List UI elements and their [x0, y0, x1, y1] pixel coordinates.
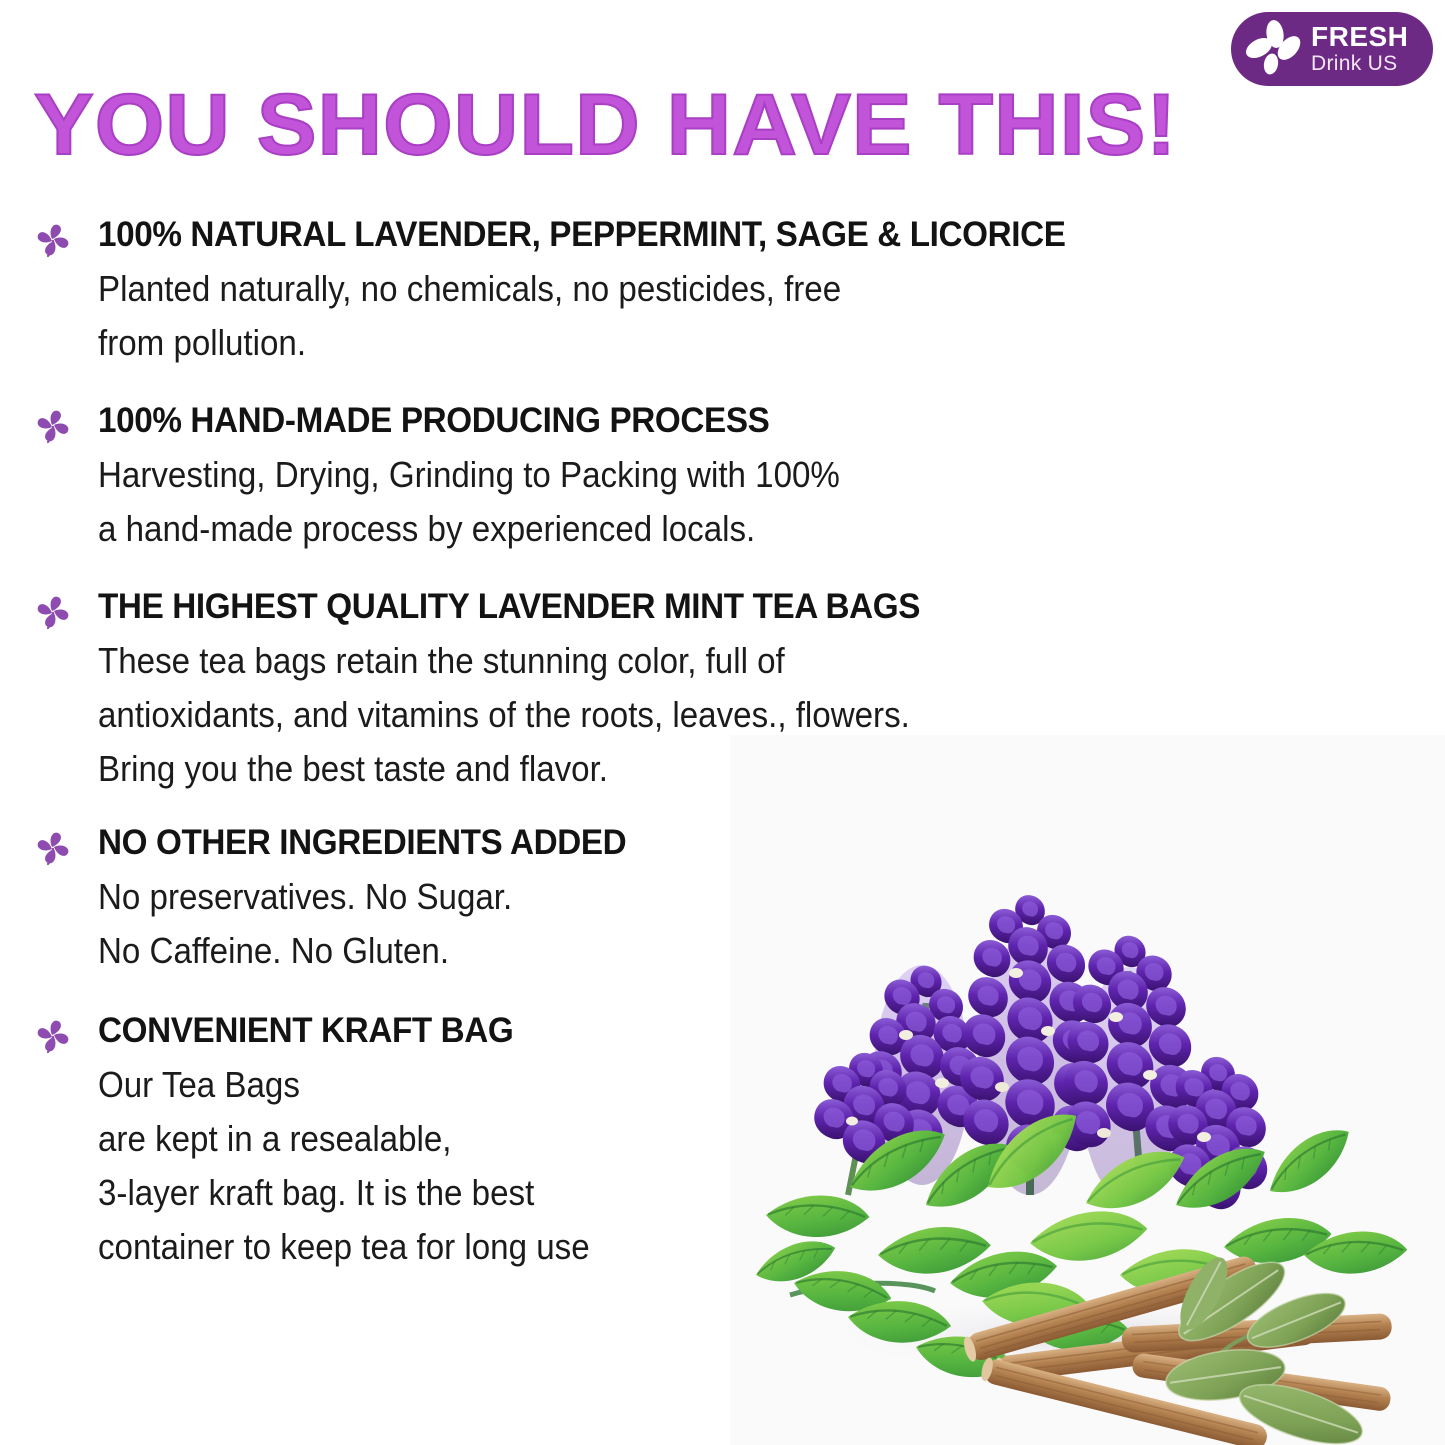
feature-body: Planted naturally, no chemicals, no pest…	[98, 262, 1314, 370]
herb-ingredients-photo	[730, 735, 1445, 1445]
feature-body-line: antioxidants, and vitamins of the roots,…	[98, 688, 1314, 742]
brand-name-bottom: Drink US	[1311, 53, 1408, 74]
feature-body: Harvesting, Drying, Grinding to Packing …	[98, 448, 1314, 556]
feature-item: 100% NATURAL LAVENDER, PEPPERMINT, SAGE …	[30, 212, 1420, 370]
brand-badge: FRESH Drink US	[1231, 12, 1433, 86]
page-title: YOU SHOULD HAVE THIS!	[34, 82, 1272, 168]
infographic-page: FRESH Drink US YOU SHOULD HAVE THIS! 100…	[0, 0, 1445, 1445]
feature-title: THE HIGHEST QUALITY LAVENDER MINT TEA BA…	[98, 584, 1354, 630]
flower-petals-icon	[1243, 18, 1305, 80]
feature-body-line: These tea bags retain the stunning color…	[98, 634, 1314, 688]
feature-body-line: Harvesting, Drying, Grinding to Packing …	[98, 448, 1314, 502]
four-leaf-clover-icon	[30, 1014, 76, 1060]
brand-name-top: FRESH	[1311, 23, 1408, 51]
feature-body-line: Planted naturally, no chemicals, no pest…	[98, 262, 1314, 316]
feature-title: 100% HAND-MADE PRODUCING PROCESS	[98, 398, 1354, 444]
brand-text: FRESH Drink US	[1311, 23, 1408, 76]
four-leaf-clover-icon	[30, 826, 76, 872]
feature-body-line: from pollution.	[98, 316, 1314, 370]
feature-item: 100% HAND-MADE PRODUCING PROCESS Harvest…	[30, 398, 1420, 556]
feature-body-line: a hand-made process by experienced local…	[98, 502, 1314, 556]
four-leaf-clover-icon	[30, 404, 76, 450]
four-leaf-clover-icon	[30, 218, 76, 264]
four-leaf-clover-icon	[30, 590, 76, 636]
feature-title: 100% NATURAL LAVENDER, PEPPERMINT, SAGE …	[98, 212, 1354, 258]
